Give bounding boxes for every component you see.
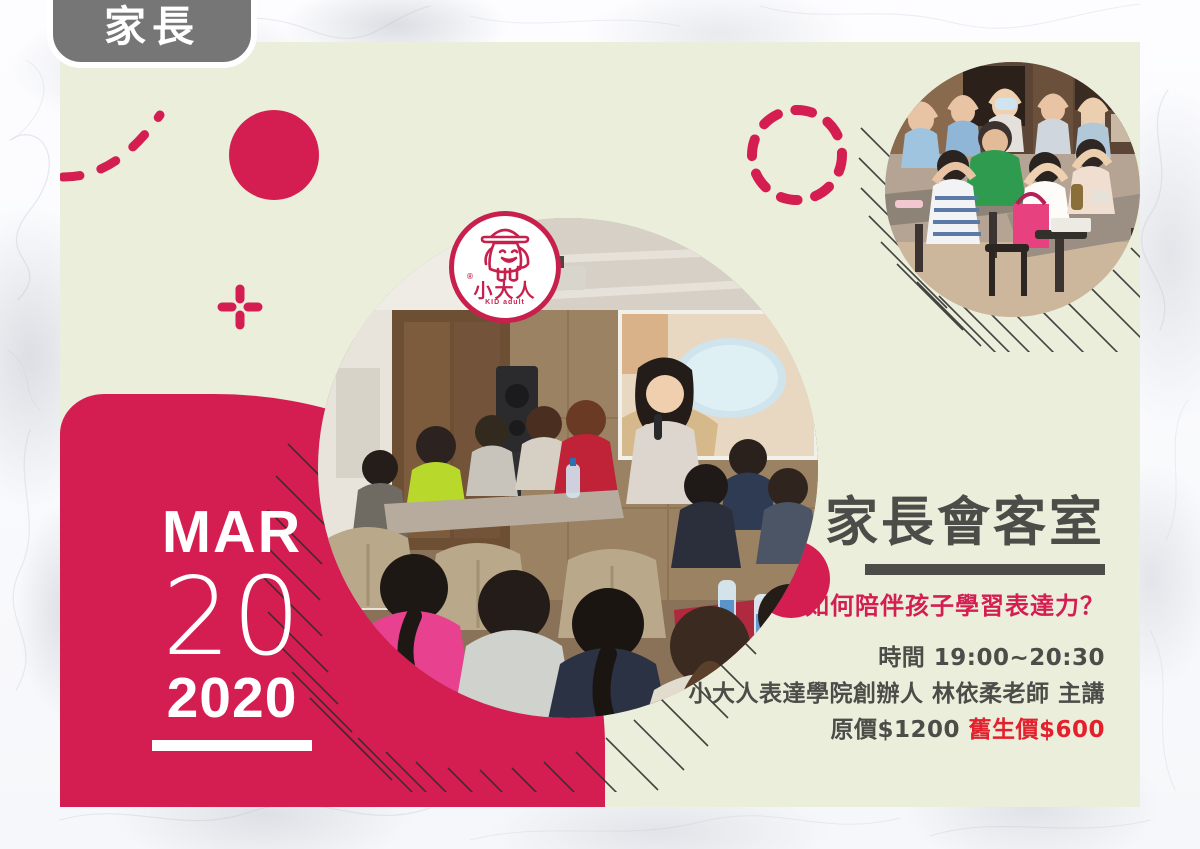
photo-workshop-topright xyxy=(885,62,1140,317)
event-info-block: 時間 19:00~20:30 小大人表達學院創辦人 林依柔老師 主講 原價$12… xyxy=(680,641,1105,748)
event-subtitle: 如何陪伴孩子學習表達力？ xyxy=(680,586,1105,621)
event-text-column: 家長會客室 如何陪伴孩子學習表達力？ 時間 19:00~20:30 小大人表達學… xyxy=(680,494,1105,748)
dashed-arc-decoration xyxy=(60,97,205,187)
dashed-ring-decoration xyxy=(732,90,862,220)
info-line-speaker: 小大人表達學院創辦人 林依柔老師 主講 xyxy=(680,677,1105,713)
event-title: 家長會客室 xyxy=(680,494,1105,551)
date-underline-rule xyxy=(152,740,312,751)
date-day: 20 xyxy=(122,561,342,674)
decorative-dot-large xyxy=(229,110,319,200)
logo-subtitle: KID adult xyxy=(454,299,556,306)
plus-marker-icon xyxy=(215,282,265,332)
price-sale: 舊生價$600 xyxy=(968,717,1105,743)
title-underline-rule xyxy=(865,564,1105,575)
audience-tag-label: 家長 xyxy=(104,6,200,62)
price-regular: 原價$1200 xyxy=(830,717,960,743)
info-line-price: 原價$1200 舊生價$600 xyxy=(680,713,1105,749)
brand-logo-badge: ® 小大人 KID adult xyxy=(449,211,561,323)
info-line-time: 時間 19:00~20:30 xyxy=(680,641,1105,677)
poster-root: ® 小大人 KID adult MAR 20 2020 家長會客室 如何陪伴孩子… xyxy=(0,0,1200,849)
date-year: 2020 xyxy=(122,670,342,727)
audience-tag: 家長 xyxy=(47,0,257,68)
event-date-block: MAR 20 2020 xyxy=(122,504,342,751)
poster-canvas: ® 小大人 KID adult MAR 20 2020 家長會客室 如何陪伴孩子… xyxy=(60,42,1140,807)
date-month: MAR xyxy=(122,504,342,561)
